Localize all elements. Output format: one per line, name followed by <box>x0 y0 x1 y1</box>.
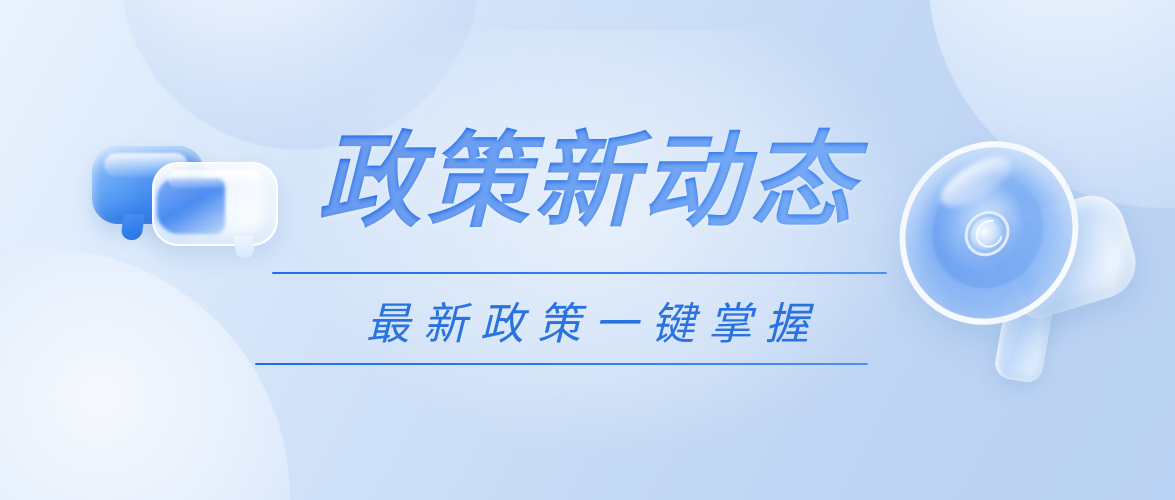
page-title: 政策新动态 <box>0 124 1175 240</box>
policy-news-banner: 政策新动态 最新政策一键掌握 <box>0 0 1175 500</box>
page-subtitle: 最新政策一键掌握 <box>0 288 1175 352</box>
divider-bottom <box>255 363 868 365</box>
sphere-decoration-bottom-left <box>0 248 290 500</box>
divider-top <box>272 272 887 274</box>
